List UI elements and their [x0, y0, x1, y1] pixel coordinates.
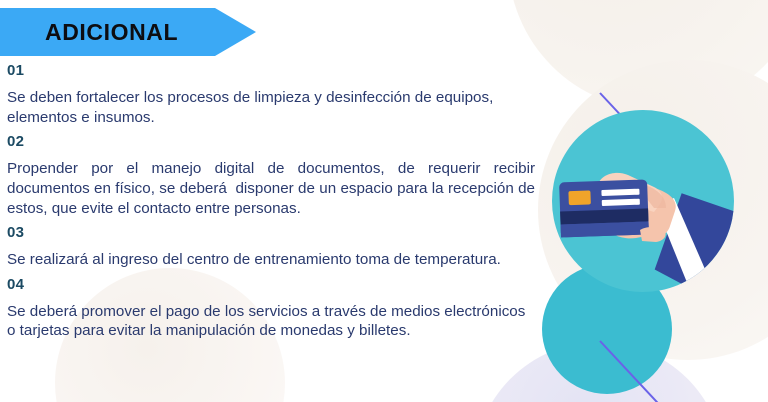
item-text: Se deberá promover el pago de los servic… [7, 302, 535, 342]
illustration-hand-holding-credit-card [552, 110, 734, 292]
hand-credit-card-icon [542, 98, 752, 308]
item-number: 02 [7, 133, 535, 152]
item-text: Propender por el manejo digital de docum… [7, 159, 535, 218]
header-banner: ADICIONAL [0, 8, 256, 56]
banner-title: ADICIONAL [45, 19, 178, 46]
list-item: 02 Propender por el manejo digital de do… [7, 133, 535, 218]
slide-canvas: ADICIONAL 01 Se deben fortalecer los pro… [0, 0, 768, 402]
decor-diagonal-line-bottom [599, 340, 674, 402]
item-number: 01 [7, 62, 535, 81]
item-number: 04 [7, 276, 535, 295]
decor-circle-lavender-bottom [474, 342, 724, 402]
item-text: Se deben fortalecer los procesos de limp… [7, 88, 535, 128]
item-text: Se realizará al ingreso del centro de en… [7, 250, 535, 270]
item-number: 03 [7, 224, 535, 243]
recommendation-list: 01 Se deben fortalecer los procesos de l… [7, 62, 535, 347]
list-item: 03 Se realizará al ingreso del centro de… [7, 224, 535, 270]
list-item: 04 Se deberá promover el pago de los ser… [7, 276, 535, 341]
decor-circle-beige-top [508, 0, 768, 110]
list-item: 01 Se deben fortalecer los procesos de l… [7, 62, 535, 127]
